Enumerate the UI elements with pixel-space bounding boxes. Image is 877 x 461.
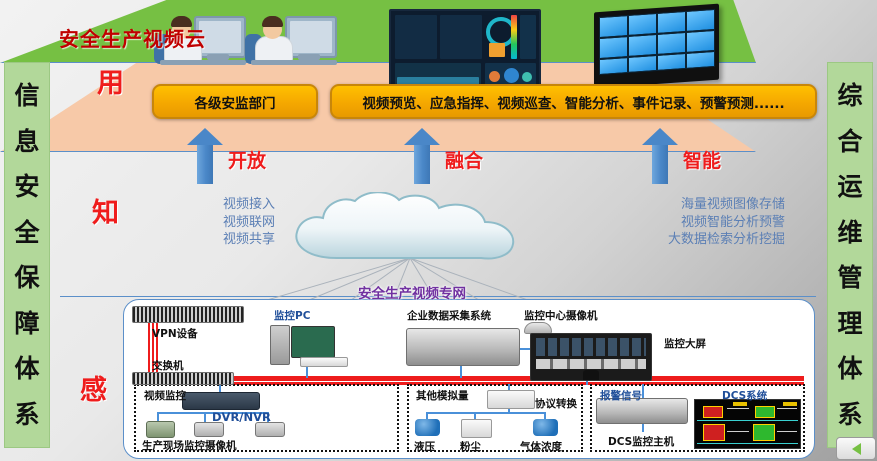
data-collection-server-image (406, 328, 520, 366)
sensor-bus-wire (426, 412, 546, 414)
layer-label-sense: 感 (80, 377, 107, 404)
cloud-capabilities-right: 海量视频图像存储 视频智能分析预警 大数据检索分析挖掘 (555, 196, 785, 249)
pc-monitor-image (291, 326, 335, 358)
cloud-capabilities-left: 视频接入 视频联网 视频共享 (135, 196, 275, 249)
dcs-uplink-wire (642, 384, 644, 398)
dcs-scada-screenshot (694, 399, 801, 449)
label-dvr-nvr: DVR/NVR (212, 410, 271, 424)
cloud-left-item-0: 视频接入 (135, 196, 275, 214)
dvr-uplink-wire (219, 384, 221, 392)
pc-keyboard-image (300, 357, 348, 367)
layer-label-use: 用 (97, 70, 124, 97)
arrow-up-open-icon (187, 128, 223, 184)
label-switch: 交换机 (152, 358, 184, 373)
cloud-right-item-0: 海量视频图像存储 (555, 196, 785, 214)
video-wall-image (594, 4, 719, 89)
left-panel-char-2: 安 (14, 174, 39, 199)
label-video-private-network: 安全生产视频专网 (358, 282, 466, 302)
dust-sensor-image (461, 419, 492, 438)
diagram-canvas: 信 息 安 全 保 障 体 系 综 合 运 维 管 理 体 系 (0, 0, 877, 461)
cloud-left-item-2: 视频共享 (135, 231, 275, 249)
cloud-left-item-1: 视频联网 (135, 214, 275, 232)
left-panel-char-4: 保 (14, 265, 39, 290)
arrow-label-intelligence: 智能 (683, 152, 721, 171)
protocol-converter-image (487, 390, 535, 409)
label-vpn-device: VPN设备 (152, 326, 198, 341)
right-panel-char-7: 系 (837, 402, 862, 427)
infrastructure-panel: VPN设备 交换机 监控PC 企业数据采集系统 监控中心摄像机 监控大屏 视频监… (123, 299, 815, 459)
box-platform-functions[interactable]: 视频预览、应急指挥、视频巡查、智能分析、事件记录、预警预测...... (330, 84, 817, 119)
label-monitoring-large-screen: 监控大屏 (664, 336, 706, 351)
label-protocol-conversion: 协议转换 (535, 396, 577, 411)
hydraulic-sensor-image (415, 419, 440, 436)
vpn-device-image (132, 306, 244, 323)
left-panel-char-1: 息 (14, 129, 39, 154)
cloud-right-item-2: 大数据检索分析挖掘 (555, 231, 785, 249)
gas-sensor-image (533, 419, 558, 436)
label-dcs-system: DCS系统 (722, 388, 767, 403)
label-site-cameras: 生产现场监控摄像机 (142, 438, 237, 453)
arrow-label-open: 开放 (228, 152, 266, 171)
left-panel-char-0: 信 (14, 83, 39, 108)
arrow-up-intelligence-icon (642, 128, 678, 184)
right-panel-char-3: 维 (837, 220, 862, 245)
arrow-label-fusion: 融合 (445, 152, 483, 171)
label-sensor-hydraulic: 液压 (414, 439, 435, 454)
label-alarm-signal: 报警信号 (600, 388, 642, 403)
left-panel-char-6: 体 (14, 356, 39, 381)
left-panel-char-3: 全 (14, 220, 39, 245)
right-panel-char-1: 合 (837, 129, 862, 154)
left-vertical-panel-information-security: 信 息 安 全 保 障 体 系 (4, 62, 50, 448)
left-panel-char-5: 障 (14, 311, 39, 336)
pc-tower-image (270, 325, 290, 365)
label-video-surveillance: 视频监控 (144, 388, 186, 403)
label-monitoring-pc: 监控PC (274, 308, 310, 323)
data-collection-uplink-wire (460, 364, 462, 378)
network-backbone-line (134, 376, 804, 381)
label-monitoring-center-camera: 监控中心摄像机 (524, 308, 598, 323)
cloud-shape-icon (285, 192, 550, 266)
right-vertical-panel-operations-management: 综 合 运 维 管 理 体 系 (827, 62, 873, 448)
right-panel-char-4: 管 (837, 265, 862, 290)
corner-play-badge-icon[interactable] (836, 437, 876, 460)
switch-device-image (132, 372, 234, 385)
box-supervision-departments[interactable]: 各级安监部门 (152, 84, 318, 119)
arrow-up-fusion-icon (404, 128, 440, 184)
ptz-camera-image (146, 421, 175, 438)
cloud-right-item-1: 视频智能分析预警 (555, 214, 785, 232)
right-panel-char-0: 综 (837, 83, 862, 108)
camera-drop-wire-2 (204, 412, 206, 422)
dvr-nvr-device-image (182, 392, 260, 410)
right-panel-char-6: 体 (837, 356, 862, 381)
label-dcs-host: DCS监控主机 (608, 434, 674, 449)
label-sensor-dust: 粉尘 (460, 439, 481, 454)
bullet-camera-image-2 (255, 422, 285, 437)
label-other-analog: 其他模拟量 (416, 388, 469, 403)
label-sensor-gas: 气体浓度 (520, 439, 562, 454)
control-room-console-image (530, 333, 652, 381)
label-enterprise-data-collection: 企业数据采集系统 (407, 308, 491, 323)
layer-label-know: 知 (92, 200, 119, 227)
bullet-camera-image-1 (194, 422, 224, 437)
right-panel-char-5: 理 (837, 311, 862, 336)
analytics-dashboard-image (389, 9, 541, 95)
right-panel-char-2: 运 (837, 174, 862, 199)
left-panel-char-7: 系 (14, 402, 39, 427)
